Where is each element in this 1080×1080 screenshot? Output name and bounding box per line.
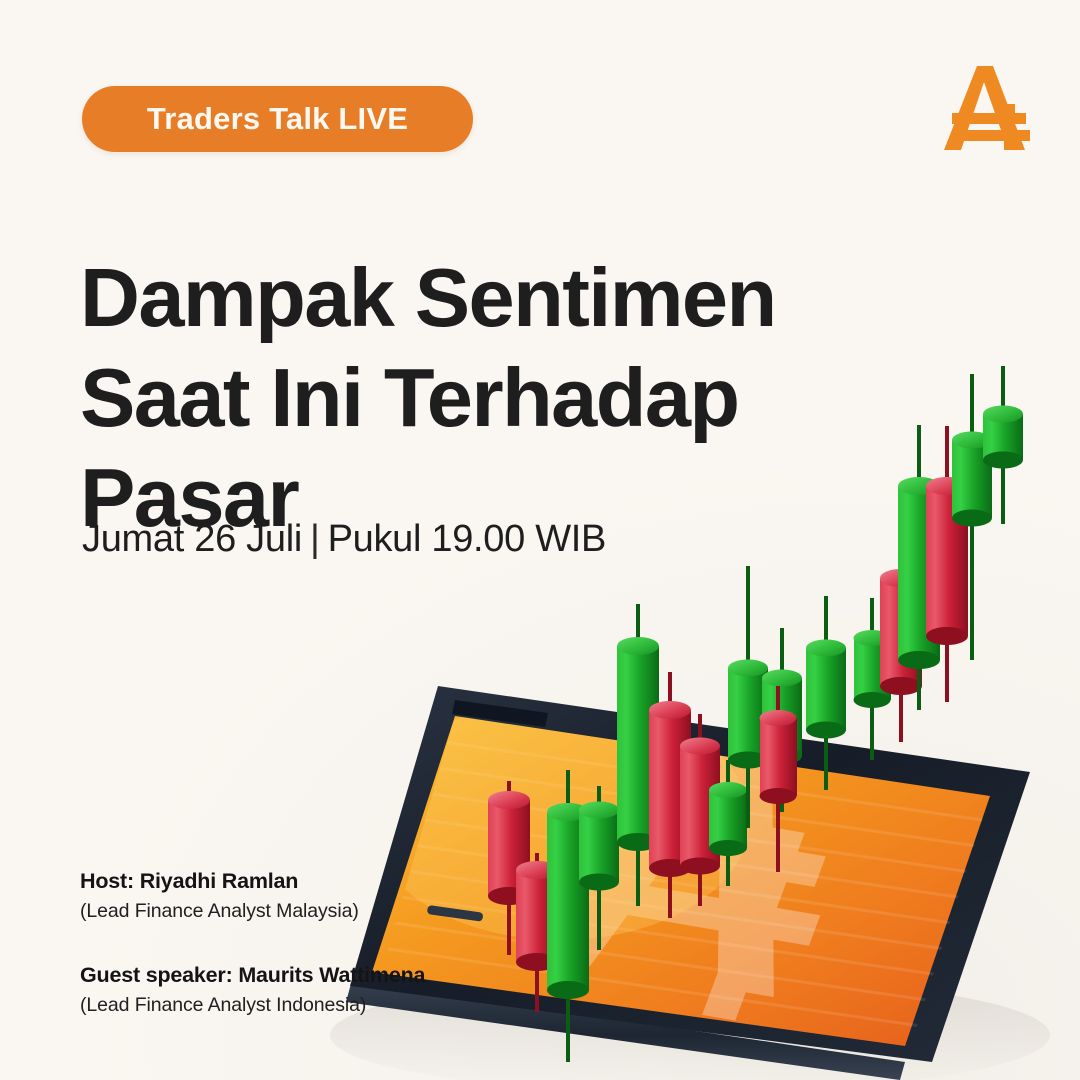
host-role: (Lead Finance Analyst Malaysia) — [80, 896, 600, 926]
host-name: Host: Riyadhi Ramlan — [80, 866, 600, 896]
guest-name: Guest speaker: Maurits Wattimena — [80, 960, 600, 990]
guest-role: (Lead Finance Analyst Indonesia) — [80, 990, 600, 1020]
credits-block: Host: Riyadhi Ramlan (Lead Finance Analy… — [80, 866, 600, 1020]
host-credit: Host: Riyadhi Ramlan (Lead Finance Analy… — [80, 866, 600, 926]
poster-canvas: Traders Talk LIVE Dampak Sentimen Saat I… — [0, 0, 1080, 1080]
guest-credit: Guest speaker: Maurits Wattimena (Lead F… — [80, 960, 600, 1020]
